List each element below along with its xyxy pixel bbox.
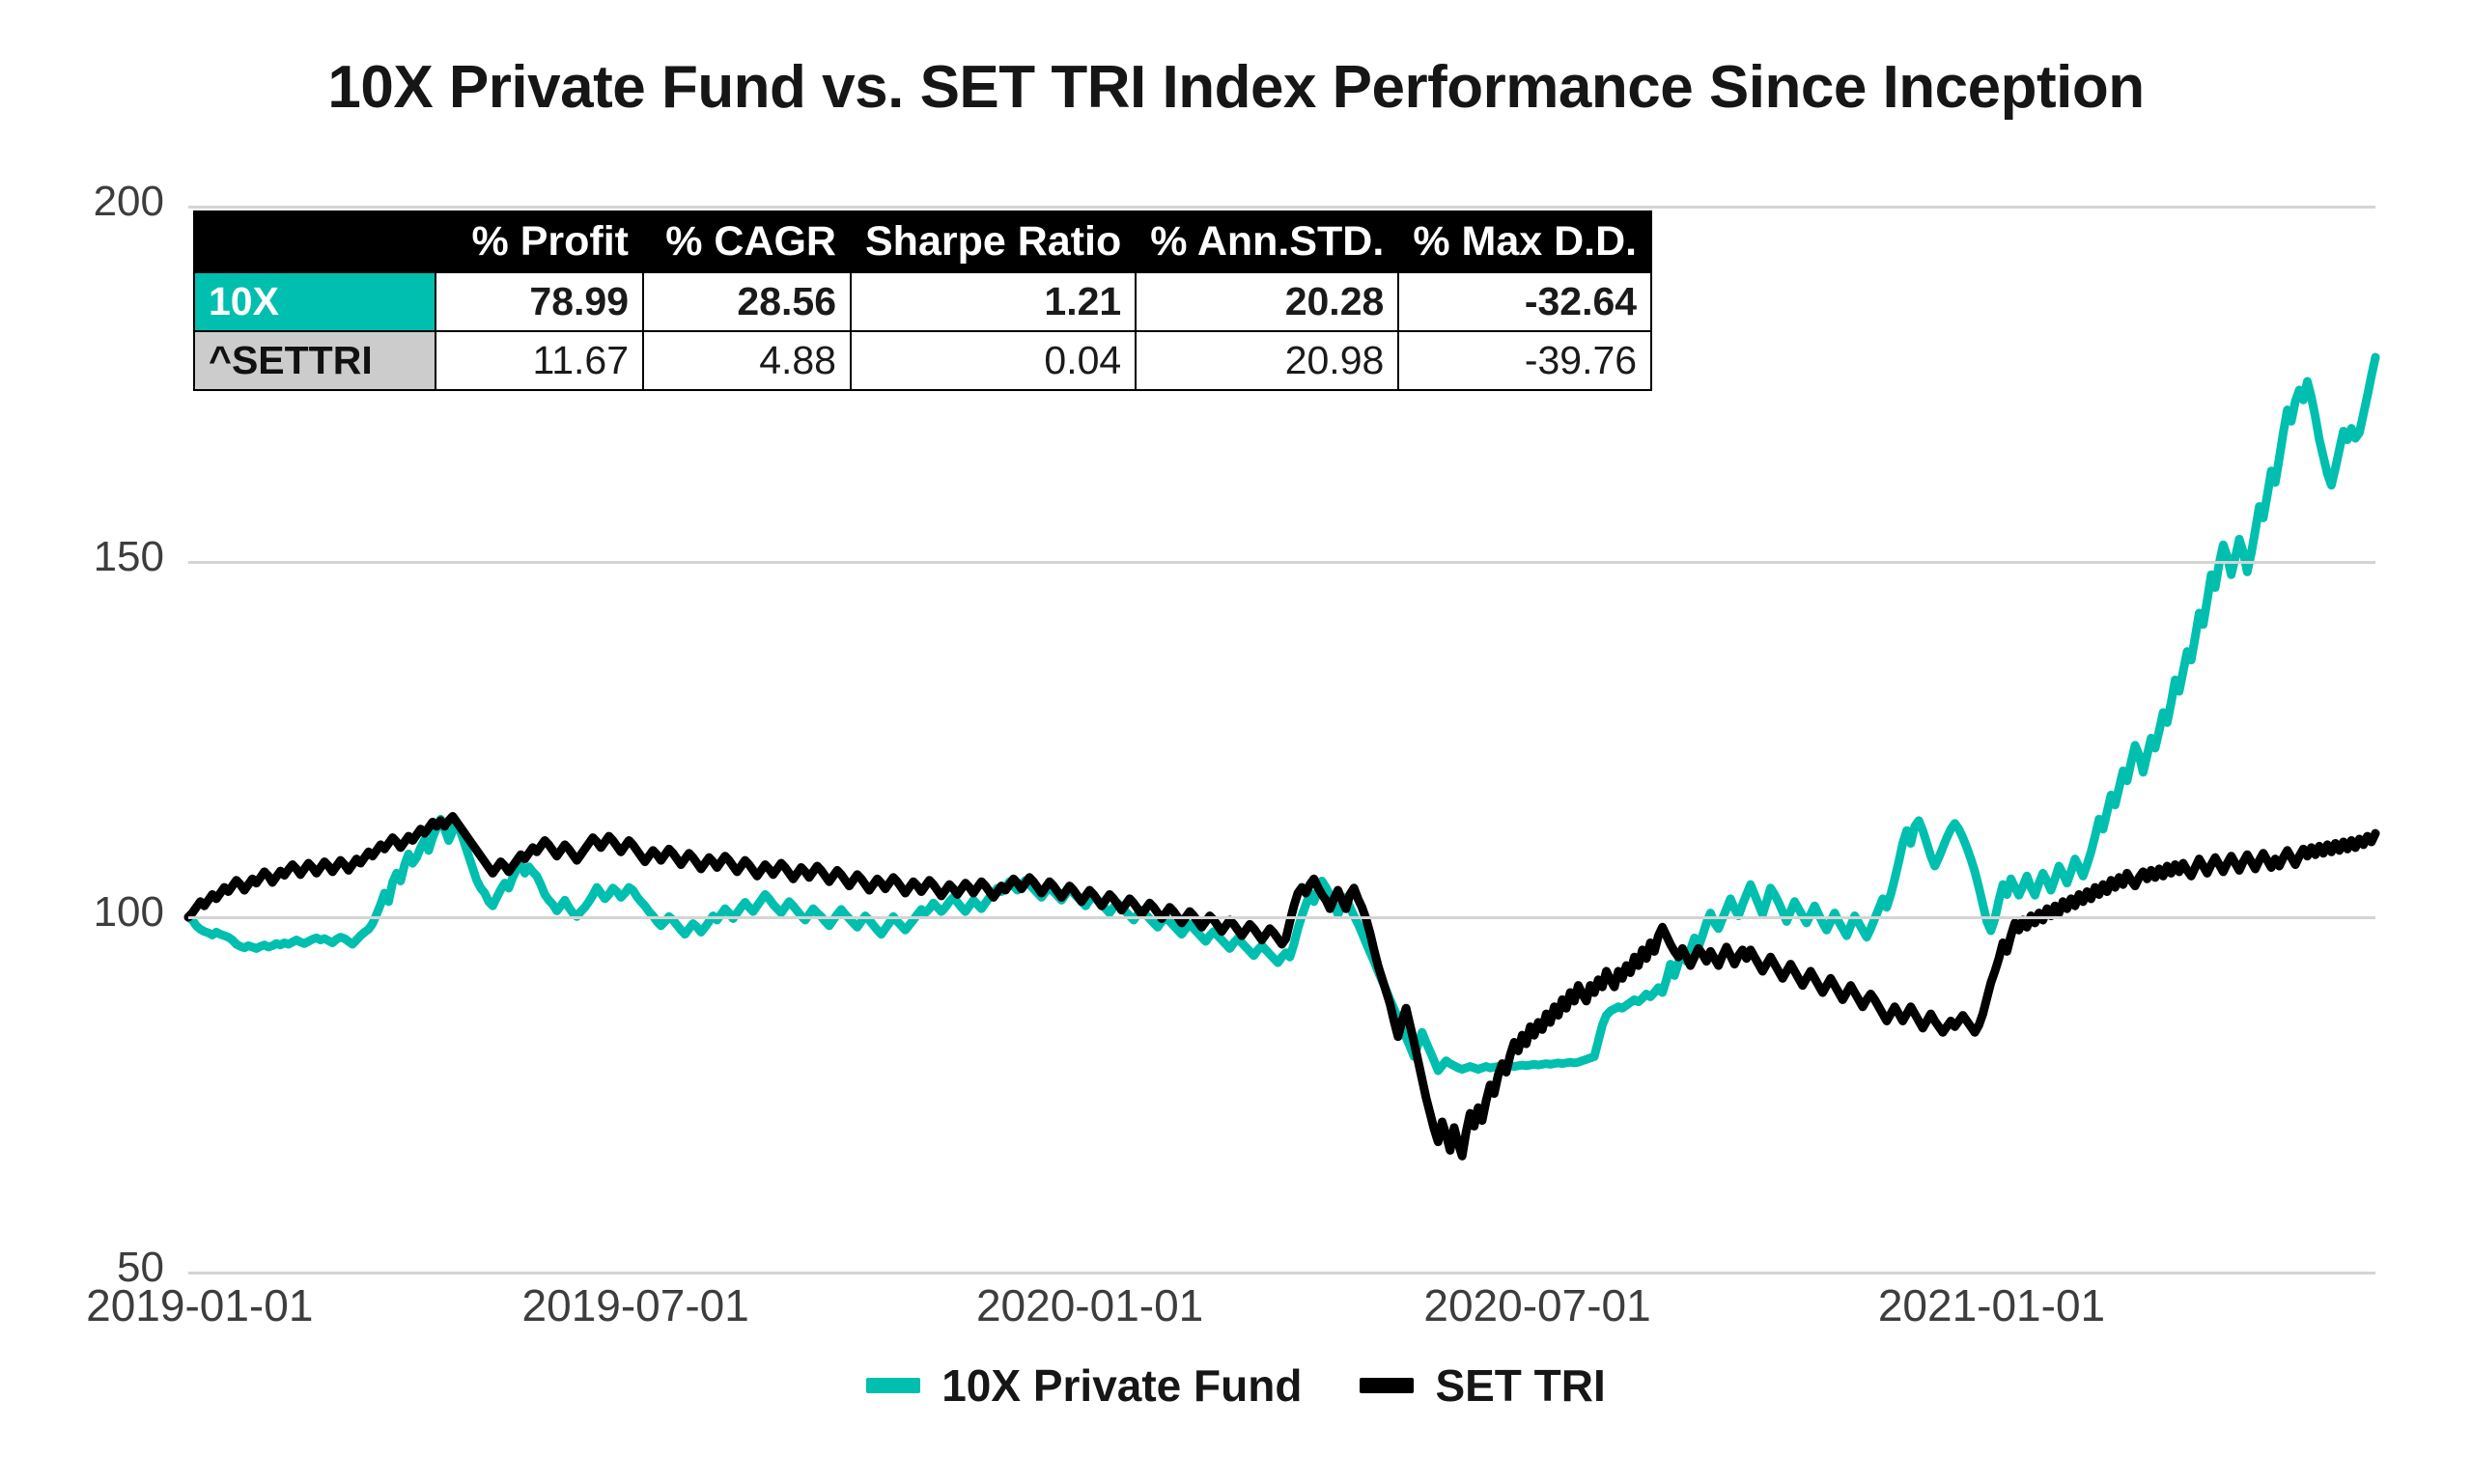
table-cell-value: 20.28 <box>1136 272 1398 331</box>
legend: 10X Private FundSET TRI <box>0 1359 2472 1412</box>
legend-swatch-icon <box>1360 1378 1414 1393</box>
x-tick-label: 2021-01-01 <box>1878 1279 2105 1331</box>
table-row: ^SETTRI11.674.880.0420.98-39.76 <box>194 331 1651 390</box>
table-row: 10X78.9928.561.2120.28-32.64 <box>194 272 1651 331</box>
table-cell-value: 0.04 <box>851 331 1136 390</box>
table-cell-value: 28.56 <box>643 272 851 331</box>
table-column-header: % Max D.D. <box>1398 211 1651 272</box>
x-tick-label: 2019-07-01 <box>522 1279 749 1331</box>
legend-swatch-icon <box>866 1378 920 1393</box>
legend-label: SET TRI <box>1435 1359 1605 1412</box>
legend-label: 10X Private Fund <box>941 1359 1302 1412</box>
table-column-header: % CAGR <box>643 211 851 272</box>
table-corner-cell <box>194 211 435 272</box>
legend-item[interactable]: 10X Private Fund <box>866 1359 1302 1412</box>
gridline-150 <box>188 561 2375 564</box>
chart-container: 10X Private Fund vs. SET TRI Index Perfo… <box>0 0 2472 1484</box>
page-title: 10X Private Fund vs. SET TRI Index Perfo… <box>0 53 2472 122</box>
y-tick-label: 200 <box>0 178 164 226</box>
y-tick-label: 100 <box>0 888 164 937</box>
table-cell-value: -32.64 <box>1398 272 1651 331</box>
table-cell-value: 20.98 <box>1136 331 1398 390</box>
table-row-label: 10X <box>194 272 435 331</box>
y-axis: 50100150200 <box>0 0 174 1484</box>
gridline-100 <box>188 916 2375 919</box>
table-column-header: % Profit <box>435 211 643 272</box>
table-body: 10X78.9928.561.2120.28-32.64^SETTRI11.67… <box>194 272 1651 390</box>
legend-item[interactable]: SET TRI <box>1360 1359 1605 1412</box>
table-cell-value: 1.21 <box>851 272 1136 331</box>
gridline-50 <box>188 1272 2375 1274</box>
table-cell-value: -39.76 <box>1398 331 1651 390</box>
x-tick-label: 2019-01-01 <box>86 1279 313 1331</box>
gridline-200 <box>188 206 2375 209</box>
series-line <box>188 357 2375 1071</box>
x-tick-label: 2020-01-01 <box>976 1279 1203 1331</box>
series-line <box>188 816 2375 1156</box>
table-row-label: ^SETTRI <box>194 331 435 390</box>
table-cell-value: 78.99 <box>435 272 643 331</box>
x-tick-label: 2020-07-01 <box>1423 1279 1650 1331</box>
table-header-row: % Profit% CAGRSharpe Ratio% Ann.STD.% Ma… <box>194 211 1651 272</box>
y-tick-label: 150 <box>0 533 164 581</box>
table-column-header: Sharpe Ratio <box>851 211 1136 272</box>
stats-table: % Profit% CAGRSharpe Ratio% Ann.STD.% Ma… <box>193 210 1652 391</box>
table-column-header: % Ann.STD. <box>1136 211 1398 272</box>
x-axis: 2019-01-012019-07-012020-01-012020-07-01… <box>0 1279 2472 1347</box>
table-cell-value: 11.67 <box>435 331 643 390</box>
table-cell-value: 4.88 <box>643 331 851 390</box>
